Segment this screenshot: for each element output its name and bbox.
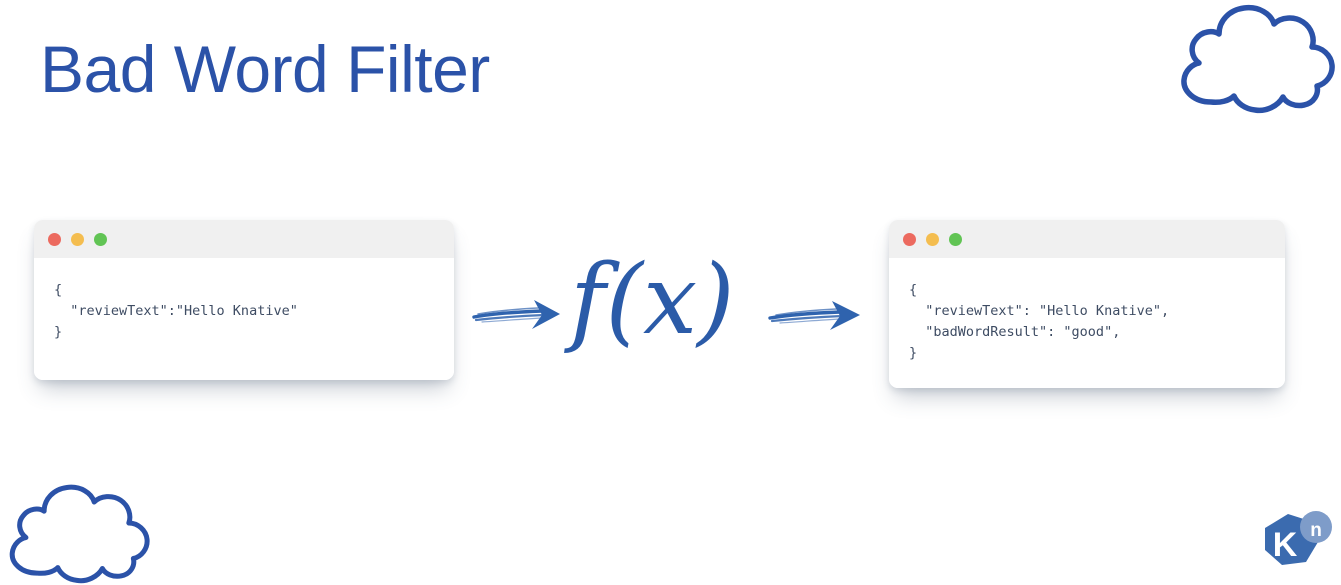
response-payload-window: { "reviewText": "Hello Knative", "badWor… bbox=[889, 220, 1285, 388]
request-json-code: { "reviewText":"Hello Knative" } bbox=[54, 280, 434, 343]
cloud-outline-icon bbox=[1168, 2, 1340, 119]
maximize-dot[interactable] bbox=[949, 233, 962, 246]
knative-letter-n: n bbox=[1310, 520, 1322, 541]
window-body: { "reviewText": "Hello Knative", "badWor… bbox=[889, 258, 1285, 388]
sketch-arrow-right-icon bbox=[472, 296, 564, 339]
maximize-dot[interactable] bbox=[94, 233, 107, 246]
knative-logo: K n bbox=[1252, 508, 1338, 585]
close-dot[interactable] bbox=[48, 233, 61, 246]
window-titlebar bbox=[889, 220, 1285, 258]
knative-letter-k: K bbox=[1273, 526, 1298, 564]
slide-canvas: Bad Word Filter { "reviewText":"Hello Kn… bbox=[0, 0, 1341, 585]
cloud-outline-icon bbox=[0, 482, 156, 585]
minimize-dot[interactable] bbox=[926, 233, 939, 246]
window-titlebar bbox=[34, 220, 454, 258]
close-dot[interactable] bbox=[903, 233, 916, 246]
window-body: { "reviewText":"Hello Knative" } bbox=[34, 258, 454, 380]
response-json-code: { "reviewText": "Hello Knative", "badWor… bbox=[909, 280, 1265, 364]
sketch-arrow-right-icon bbox=[768, 297, 864, 340]
minimize-dot[interactable] bbox=[71, 233, 84, 246]
transform-function-label: f(x) bbox=[570, 252, 735, 348]
page-title: Bad Word Filter bbox=[40, 32, 490, 108]
request-payload-window: { "reviewText":"Hello Knative" } bbox=[34, 220, 454, 380]
